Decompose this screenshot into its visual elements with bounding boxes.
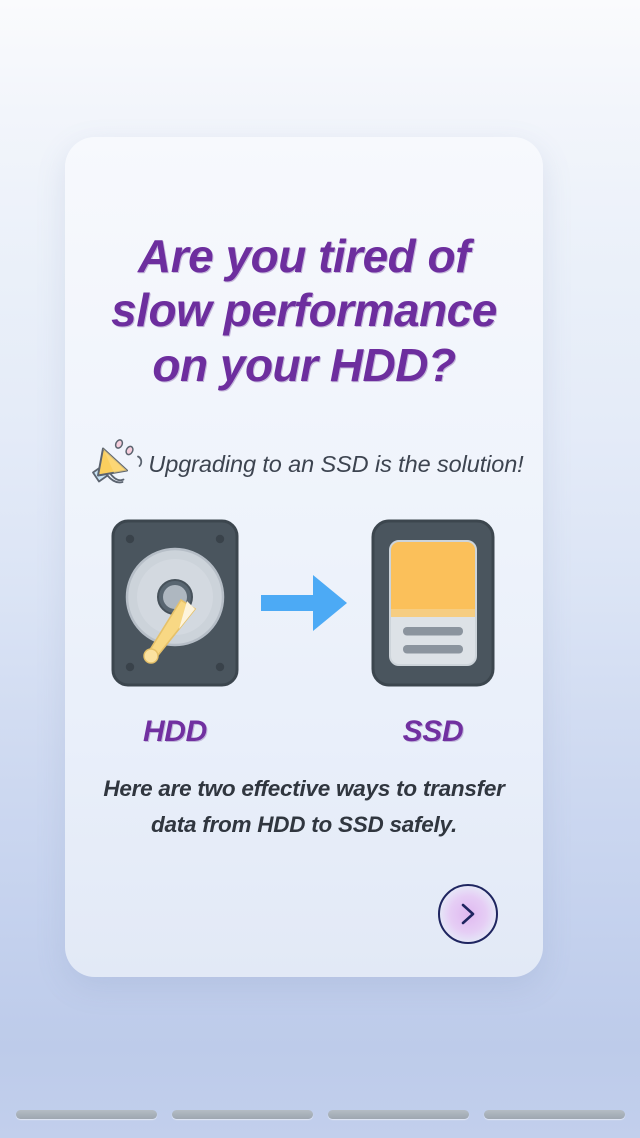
sound-mark-1 [115, 439, 125, 450]
arrow-wrap [249, 570, 359, 636]
arrow-right-icon [257, 570, 351, 636]
paragraph-line-1: Here are two effective ways to transfer [79, 771, 529, 807]
chevron-right-icon [458, 902, 478, 926]
ssd-label: SSD [403, 715, 464, 748]
subheadline-row: Upgrading to an SSD is the solution! [65, 435, 543, 493]
hdd-icon-wrap [101, 517, 249, 689]
sound-mark-3 [138, 457, 141, 467]
ssd-label-bar-1 [403, 627, 463, 636]
headline-line-3: on your HDD? [65, 338, 543, 392]
pagination-bar-3[interactable] [328, 1110, 469, 1119]
sound-mark-2 [125, 445, 135, 456]
hdd-label: HDD [143, 715, 207, 748]
label-spacer [249, 715, 359, 749]
paragraph-line-2: data from HDD to SSD safely. [79, 807, 529, 843]
headline-line-2: slow performance [65, 283, 543, 337]
solid-state-drive-icon [369, 517, 497, 689]
next-button[interactable] [438, 884, 498, 944]
page-title: Are you tired of slow performance on you… [65, 229, 543, 392]
ssd-icon-wrap [359, 517, 507, 689]
hdd-label-slot: HDD [101, 715, 249, 749]
pagination-bars[interactable] [0, 1110, 640, 1120]
content-card: Are you tired of slow performance on you… [65, 137, 543, 977]
megaphone-icon [84, 435, 146, 493]
ssd-label-bar-2 [403, 645, 463, 654]
hard-disk-drive-icon [109, 517, 241, 689]
pagination-bar-2[interactable] [172, 1110, 313, 1119]
drive-labels: HDD SSD [65, 715, 543, 749]
pagination-bar-4[interactable] [484, 1110, 625, 1119]
headline-line-1: Are you tired of [65, 229, 543, 283]
body-paragraph: Here are two effective ways to transfer … [79, 771, 529, 844]
subheadline-text: Upgrading to an SSD is the solution! [148, 451, 523, 478]
ssd-label-slot: SSD [359, 715, 507, 749]
drive-comparison [65, 517, 543, 689]
pagination-bar-1[interactable] [16, 1110, 157, 1119]
slide-screen: Are you tired of slow performance on you… [0, 0, 640, 1138]
